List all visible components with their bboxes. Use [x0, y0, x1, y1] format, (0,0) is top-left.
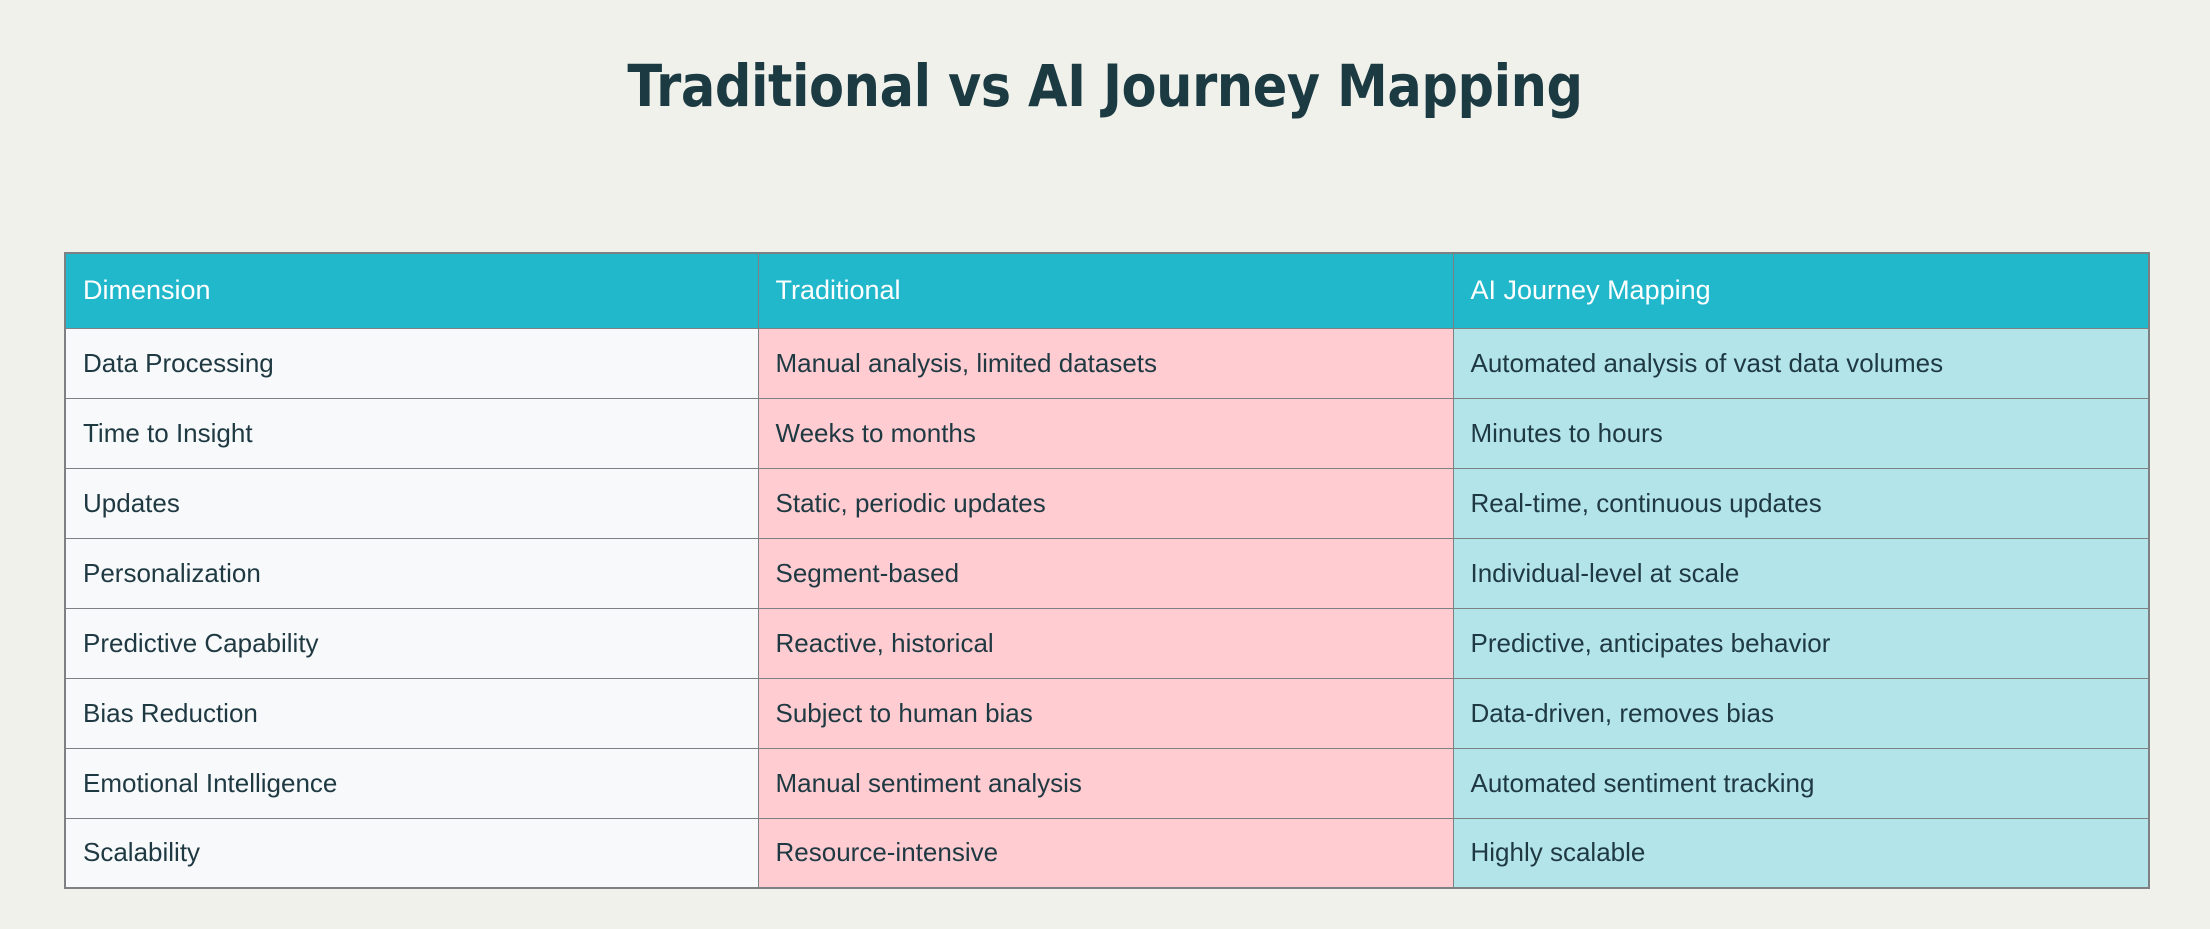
table-row: Predictive Capability Reactive, historic… — [65, 608, 2149, 678]
table-row: Time to Insight Weeks to months Minutes … — [65, 398, 2149, 468]
cell-ai: Highly scalable — [1453, 818, 2149, 888]
table-row: Data Processing Manual analysis, limited… — [65, 328, 2149, 398]
column-header-traditional: Traditional — [758, 253, 1453, 328]
table-row: Scalability Resource-intensive Highly sc… — [65, 818, 2149, 888]
cell-traditional: Weeks to months — [758, 398, 1453, 468]
cell-dimension: Bias Reduction — [65, 678, 758, 748]
table-row: Updates Static, periodic updates Real-ti… — [65, 468, 2149, 538]
cell-traditional: Manual analysis, limited datasets — [758, 328, 1453, 398]
page-root: Traditional vs AI Journey Mapping Dimens… — [0, 0, 2210, 929]
cell-ai: Data-driven, removes bias — [1453, 678, 2149, 748]
cell-ai: Real-time, continuous updates — [1453, 468, 2149, 538]
table-header-row: Dimension Traditional AI Journey Mapping — [65, 253, 2149, 328]
page-title: Traditional vs AI Journey Mapping — [133, 53, 2078, 120]
cell-traditional: Manual sentiment analysis — [758, 748, 1453, 818]
cell-ai: Automated sentiment tracking — [1453, 748, 2149, 818]
cell-dimension: Updates — [65, 468, 758, 538]
table-body: Data Processing Manual analysis, limited… — [65, 328, 2149, 888]
cell-ai: Predictive, anticipates behavior — [1453, 608, 2149, 678]
cell-dimension: Predictive Capability — [65, 608, 758, 678]
cell-dimension: Scalability — [65, 818, 758, 888]
table-row: Bias Reduction Subject to human bias Dat… — [65, 678, 2149, 748]
cell-traditional: Segment-based — [758, 538, 1453, 608]
cell-ai: Minutes to hours — [1453, 398, 2149, 468]
table-row: Emotional Intelligence Manual sentiment … — [65, 748, 2149, 818]
table-header: Dimension Traditional AI Journey Mapping — [65, 253, 2149, 328]
cell-ai: Automated analysis of vast data volumes — [1453, 328, 2149, 398]
cell-traditional: Static, periodic updates — [758, 468, 1453, 538]
cell-dimension: Personalization — [65, 538, 758, 608]
comparison-table-container: Dimension Traditional AI Journey Mapping… — [64, 252, 2148, 889]
column-header-ai-journey-mapping: AI Journey Mapping — [1453, 253, 2149, 328]
column-header-dimension: Dimension — [65, 253, 758, 328]
cell-traditional: Resource-intensive — [758, 818, 1453, 888]
cell-dimension: Data Processing — [65, 328, 758, 398]
cell-dimension: Time to Insight — [65, 398, 758, 468]
cell-traditional: Reactive, historical — [758, 608, 1453, 678]
cell-ai: Individual-level at scale — [1453, 538, 2149, 608]
cell-dimension: Emotional Intelligence — [65, 748, 758, 818]
cell-traditional: Subject to human bias — [758, 678, 1453, 748]
comparison-table: Dimension Traditional AI Journey Mapping… — [64, 252, 2150, 889]
table-row: Personalization Segment-based Individual… — [65, 538, 2149, 608]
